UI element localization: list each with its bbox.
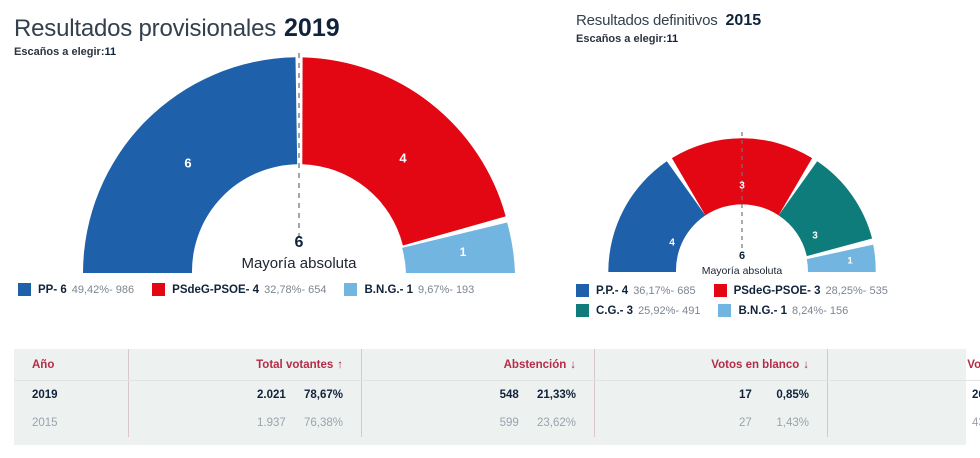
gauge-seat-label-bng-2019: 1 — [460, 245, 467, 259]
right-title-row: Resultados definitivos 2015 — [576, 12, 761, 30]
legend-stat-psoe-2019: 32,78%- 654 — [264, 284, 326, 296]
gauge-chart-2015: 4 3 3 1 6 Mayoría absoluta — [608, 135, 884, 280]
gauge-majority-number-2019: 6 — [295, 234, 304, 251]
table-header-row: Año Total votantes↑ Abstención↓ Votos en… — [14, 349, 980, 381]
cell-votos-en-blanco-num: 17 — [739, 389, 752, 401]
legend-label-bng-2015: B.N.G.- 1 — [738, 305, 787, 317]
sort-arrow-votos-en-blanco: ↓ — [803, 359, 809, 371]
cell-year: 2015 — [14, 409, 129, 437]
table-row[interactable]: 2015 1.937 76,38% 599 23,62% 27 1,43% 43… — [14, 409, 980, 437]
legend-swatch-bng-2015 — [718, 304, 731, 317]
cell-votos-nulos-num: 26 — [972, 389, 980, 401]
legend-swatch-psoe-2019 — [152, 283, 165, 296]
cell-votos-nulos: 43 2,22% — [828, 409, 980, 437]
column-header-ano[interactable]: Año — [14, 349, 129, 381]
legend-stat-psoe-2015: 28,25%- 535 — [826, 285, 888, 297]
legend-2019: PP- 6 49,42%- 986 PSdeG-PSOE- 4 32,78%- … — [18, 283, 558, 303]
legend-label-psoe-2015: PSdeG-PSOE- 3 — [734, 285, 821, 297]
cell-abstencion: 599 23,62% — [362, 409, 595, 437]
legend-item-bng-2015[interactable]: B.N.G.- 1 8,24%- 156 — [718, 304, 848, 317]
column-header-ano-label: Año — [32, 359, 54, 371]
charts-region: Resultados provisionales 2019 Escaños a … — [0, 0, 980, 340]
cell-total-votantes-pct: 78,67% — [289, 389, 343, 401]
legend-stat-bng-2015: 8,24%- 156 — [792, 305, 848, 317]
legend-stat-pp-2019: 49,42%- 986 — [72, 284, 134, 296]
right-panel-header: Resultados definitivos 2015 Escaños a el… — [576, 12, 761, 45]
legend-item-pp-2019[interactable]: PP- 6 49,42%- 986 — [18, 283, 134, 296]
cell-total-votantes: 1.937 76,38% — [129, 409, 362, 437]
column-header-total-votantes[interactable]: Total votantes↑ — [129, 349, 362, 381]
legend-item-cg-2015[interactable]: C.G.- 3 25,92%- 491 — [576, 304, 700, 317]
legend-item-psoe-2019[interactable]: PSdeG-PSOE- 4 32,78%- 654 — [152, 283, 326, 296]
cell-votos-en-blanco-num: 27 — [739, 417, 752, 429]
cell-total-votantes-num: 1.937 — [257, 417, 286, 429]
participation-table-container: Año Total votantes↑ Abstención↓ Votos en… — [14, 349, 966, 445]
legend-item-bng-2019[interactable]: B.N.G.- 1 9,67%- 193 — [344, 283, 474, 296]
legend-stat-cg-2015: 25,92%- 491 — [638, 305, 700, 317]
sort-arrow-abstencion: ↓ — [570, 359, 576, 371]
right-title-year: 2015 — [726, 12, 762, 30]
column-header-votos-nulos[interactable]: Votos nulos↓ — [828, 349, 980, 381]
cell-votos-nulos: 26 1,29% — [828, 381, 980, 410]
cell-abstencion-pct: 23,62% — [522, 417, 576, 429]
legend-swatch-pp-2019 — [18, 283, 31, 296]
sort-arrow-total-votantes: ↑ — [337, 359, 343, 371]
gauge-seat-label-pp-2019: 6 — [184, 155, 191, 170]
table-row[interactable]: 2019 2.021 78,67% 548 21,33% 17 0,85% 26… — [14, 381, 980, 410]
gauge-majority-number-2015: 6 — [739, 250, 745, 262]
legend-stat-pp-2015: 36,17%- 685 — [633, 285, 695, 297]
right-subtitle: Escaños a elegir:11 — [576, 33, 761, 45]
legend-item-psoe-2015[interactable]: PSdeG-PSOE- 3 28,25%- 535 — [714, 284, 888, 297]
column-header-votos-en-blanco[interactable]: Votos en blanco↓ — [595, 349, 828, 381]
cell-abstencion-pct: 21,33% — [522, 389, 576, 401]
cell-abstencion: 548 21,33% — [362, 381, 595, 410]
gauge-seat-label-bng-2015: 1 — [847, 256, 853, 267]
cell-votos-en-blanco-pct: 0,85% — [755, 389, 809, 401]
legend-label-pp-2019: PP- 6 — [38, 284, 67, 296]
column-header-abstencion-label: Abstención — [504, 359, 567, 371]
cell-votos-en-blanco: 17 0,85% — [595, 381, 828, 410]
cell-abstencion-num: 548 — [500, 389, 519, 401]
left-panel-header: Resultados provisionales 2019 Escaños a … — [14, 14, 340, 58]
legend-stat-bng-2019: 9,67%- 193 — [418, 284, 474, 296]
legend-2015: P.P.- 4 36,17%- 685 PSdeG-PSOE- 3 28,25%… — [576, 284, 976, 324]
legend-swatch-psoe-2015 — [714, 284, 727, 297]
right-subtitle-value: 11 — [667, 33, 679, 45]
gauge-majority-caption-2015: Mayoría absoluta — [702, 265, 783, 277]
panel-provisional-2019: Resultados provisionales 2019 Escaños a … — [0, 0, 568, 340]
right-subtitle-label: Escaños a elegir: — [576, 33, 667, 45]
cell-total-votantes: 2.021 78,67% — [129, 381, 362, 410]
legend-label-psoe-2019: PSdeG-PSOE- 4 — [172, 284, 259, 296]
legend-label-bng-2019: B.N.G.- 1 — [364, 284, 413, 296]
legend-label-pp-2015: P.P.- 4 — [596, 285, 628, 297]
column-header-votos-nulos-label: Votos nulos — [967, 359, 980, 371]
left-page-title: Resultados provisionales — [14, 15, 276, 43]
cell-year: 2019 — [14, 381, 129, 410]
gauge-seat-label-psoe-2019: 4 — [399, 150, 407, 165]
gauge-seat-label-pp-2015: 4 — [669, 238, 675, 249]
right-page-title: Resultados definitivos — [576, 12, 718, 29]
cell-votos-en-blanco-pct: 1,43% — [755, 417, 809, 429]
participation-table: Año Total votantes↑ Abstención↓ Votos en… — [14, 349, 980, 437]
legend-swatch-cg-2015 — [576, 304, 589, 317]
gauge-seat-label-psoe-2015: 3 — [739, 181, 745, 192]
column-header-votos-en-blanco-label: Votos en blanco — [711, 359, 799, 371]
legend-swatch-bng-2019 — [344, 283, 357, 296]
legend-label-cg-2015: C.G.- 3 — [596, 305, 633, 317]
cell-votos-en-blanco: 27 1,43% — [595, 409, 828, 437]
gauge-majority-caption-2019: Mayoría absoluta — [241, 255, 357, 272]
cell-total-votantes-num: 2.021 — [257, 389, 286, 401]
left-title-year: 2019 — [284, 14, 340, 43]
gauge-chart-2019: 6 4 1 6 Mayoría absoluta — [78, 57, 520, 282]
column-header-total-votantes-label: Total votantes — [256, 359, 333, 371]
cell-total-votantes-pct: 76,38% — [289, 417, 343, 429]
legend-item-pp-2015[interactable]: P.P.- 4 36,17%- 685 — [576, 284, 696, 297]
left-title-row: Resultados provisionales 2019 — [14, 14, 340, 43]
legend-swatch-pp-2015 — [576, 284, 589, 297]
gauge-seat-label-cg-2015: 3 — [812, 231, 818, 242]
cell-votos-nulos-num: 43 — [972, 417, 980, 429]
panel-definitivo-2015: Resultados definitivos 2015 Escaños a el… — [568, 0, 980, 340]
column-header-abstencion[interactable]: Abstención↓ — [362, 349, 595, 381]
cell-abstencion-num: 599 — [500, 417, 519, 429]
